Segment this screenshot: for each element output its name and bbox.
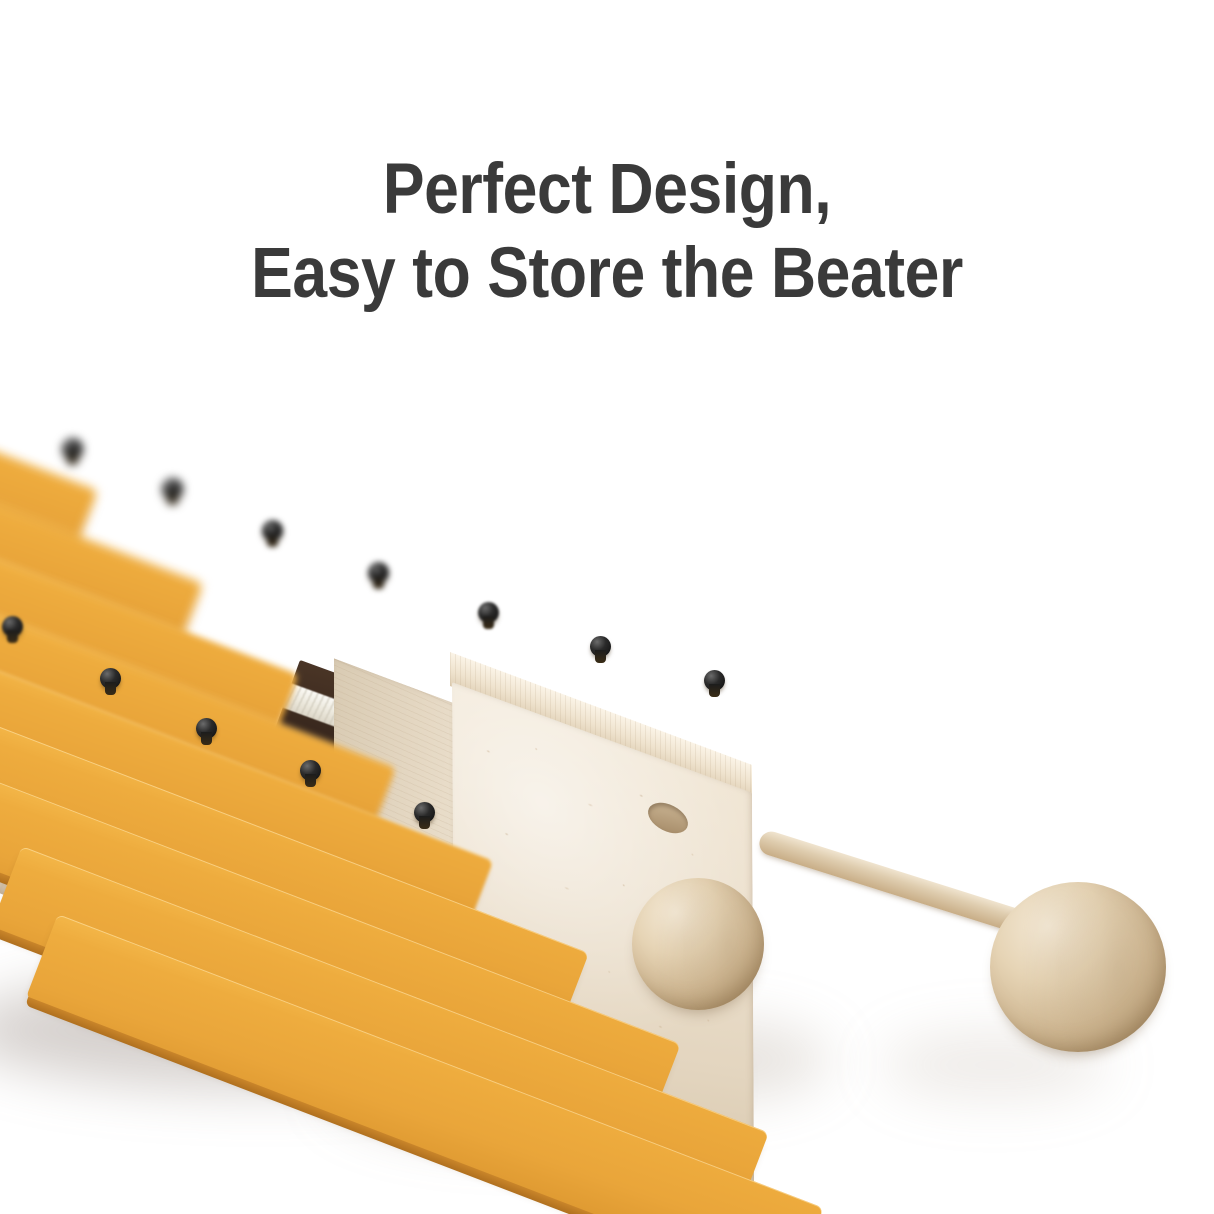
product-photo [0,330,1214,1214]
page-title: Perfect Design, Easy to Store the Beater [73,148,1141,316]
product-banner: Perfect Design, Easy to Store the Beater [0,0,1214,1214]
headline-line-2: Easy to Store the Beater [73,232,1141,316]
bar-mounting-peg [704,670,725,691]
bar-mounting-peg [100,668,121,689]
bar-mounting-peg [590,636,611,657]
bar-mounting-peg [2,616,23,637]
bar-mounting-peg [368,562,389,583]
bar-mounting-peg [478,602,499,623]
bar-mounting-peg [62,438,83,459]
bar-mounting-peg [262,520,283,541]
beater-ball-far [990,882,1166,1052]
headline-line-1: Perfect Design, [73,148,1141,232]
bar-mounting-peg [162,478,183,499]
beater-ball-near [632,878,764,1010]
bar-mounting-peg [300,760,321,781]
bar-mounting-peg [414,802,435,823]
bar-mounting-peg [196,718,217,739]
